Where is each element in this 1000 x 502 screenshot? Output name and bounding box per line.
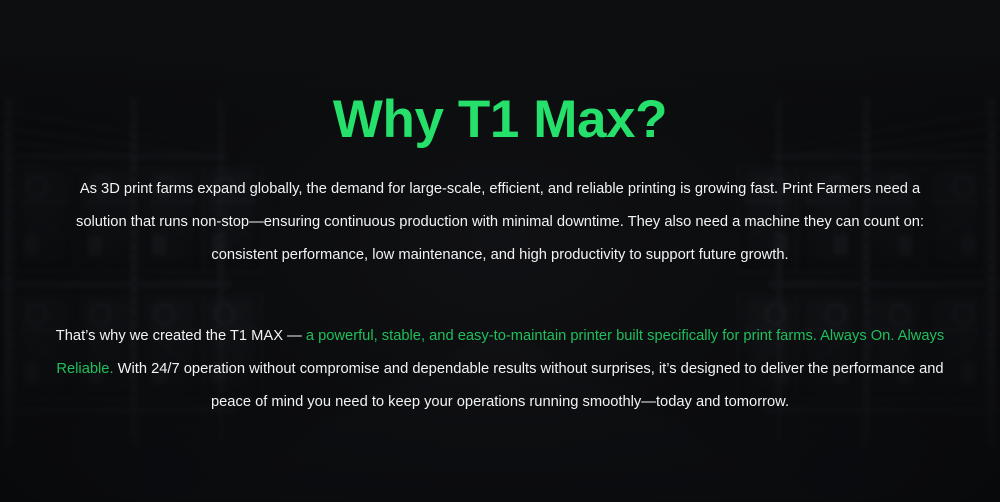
vp-text-lead: That’s why we created the T1 MAX — — [56, 328, 306, 344]
vp-text-tail: With 24/7 operation without compromise a… — [114, 361, 944, 410]
intro-paragraph: As 3D print farms expand globally, the d… — [60, 173, 940, 272]
value-proposition-paragraph: That’s why we created the T1 MAX — a pow… — [50, 320, 950, 419]
hero-content: Why T1 Max? As 3D print farms expand glo… — [0, 0, 1000, 502]
hero-section: Why T1 Max? As 3D print farms expand glo… — [0, 0, 1000, 502]
page-title: Why T1 Max? — [0, 93, 1000, 146]
